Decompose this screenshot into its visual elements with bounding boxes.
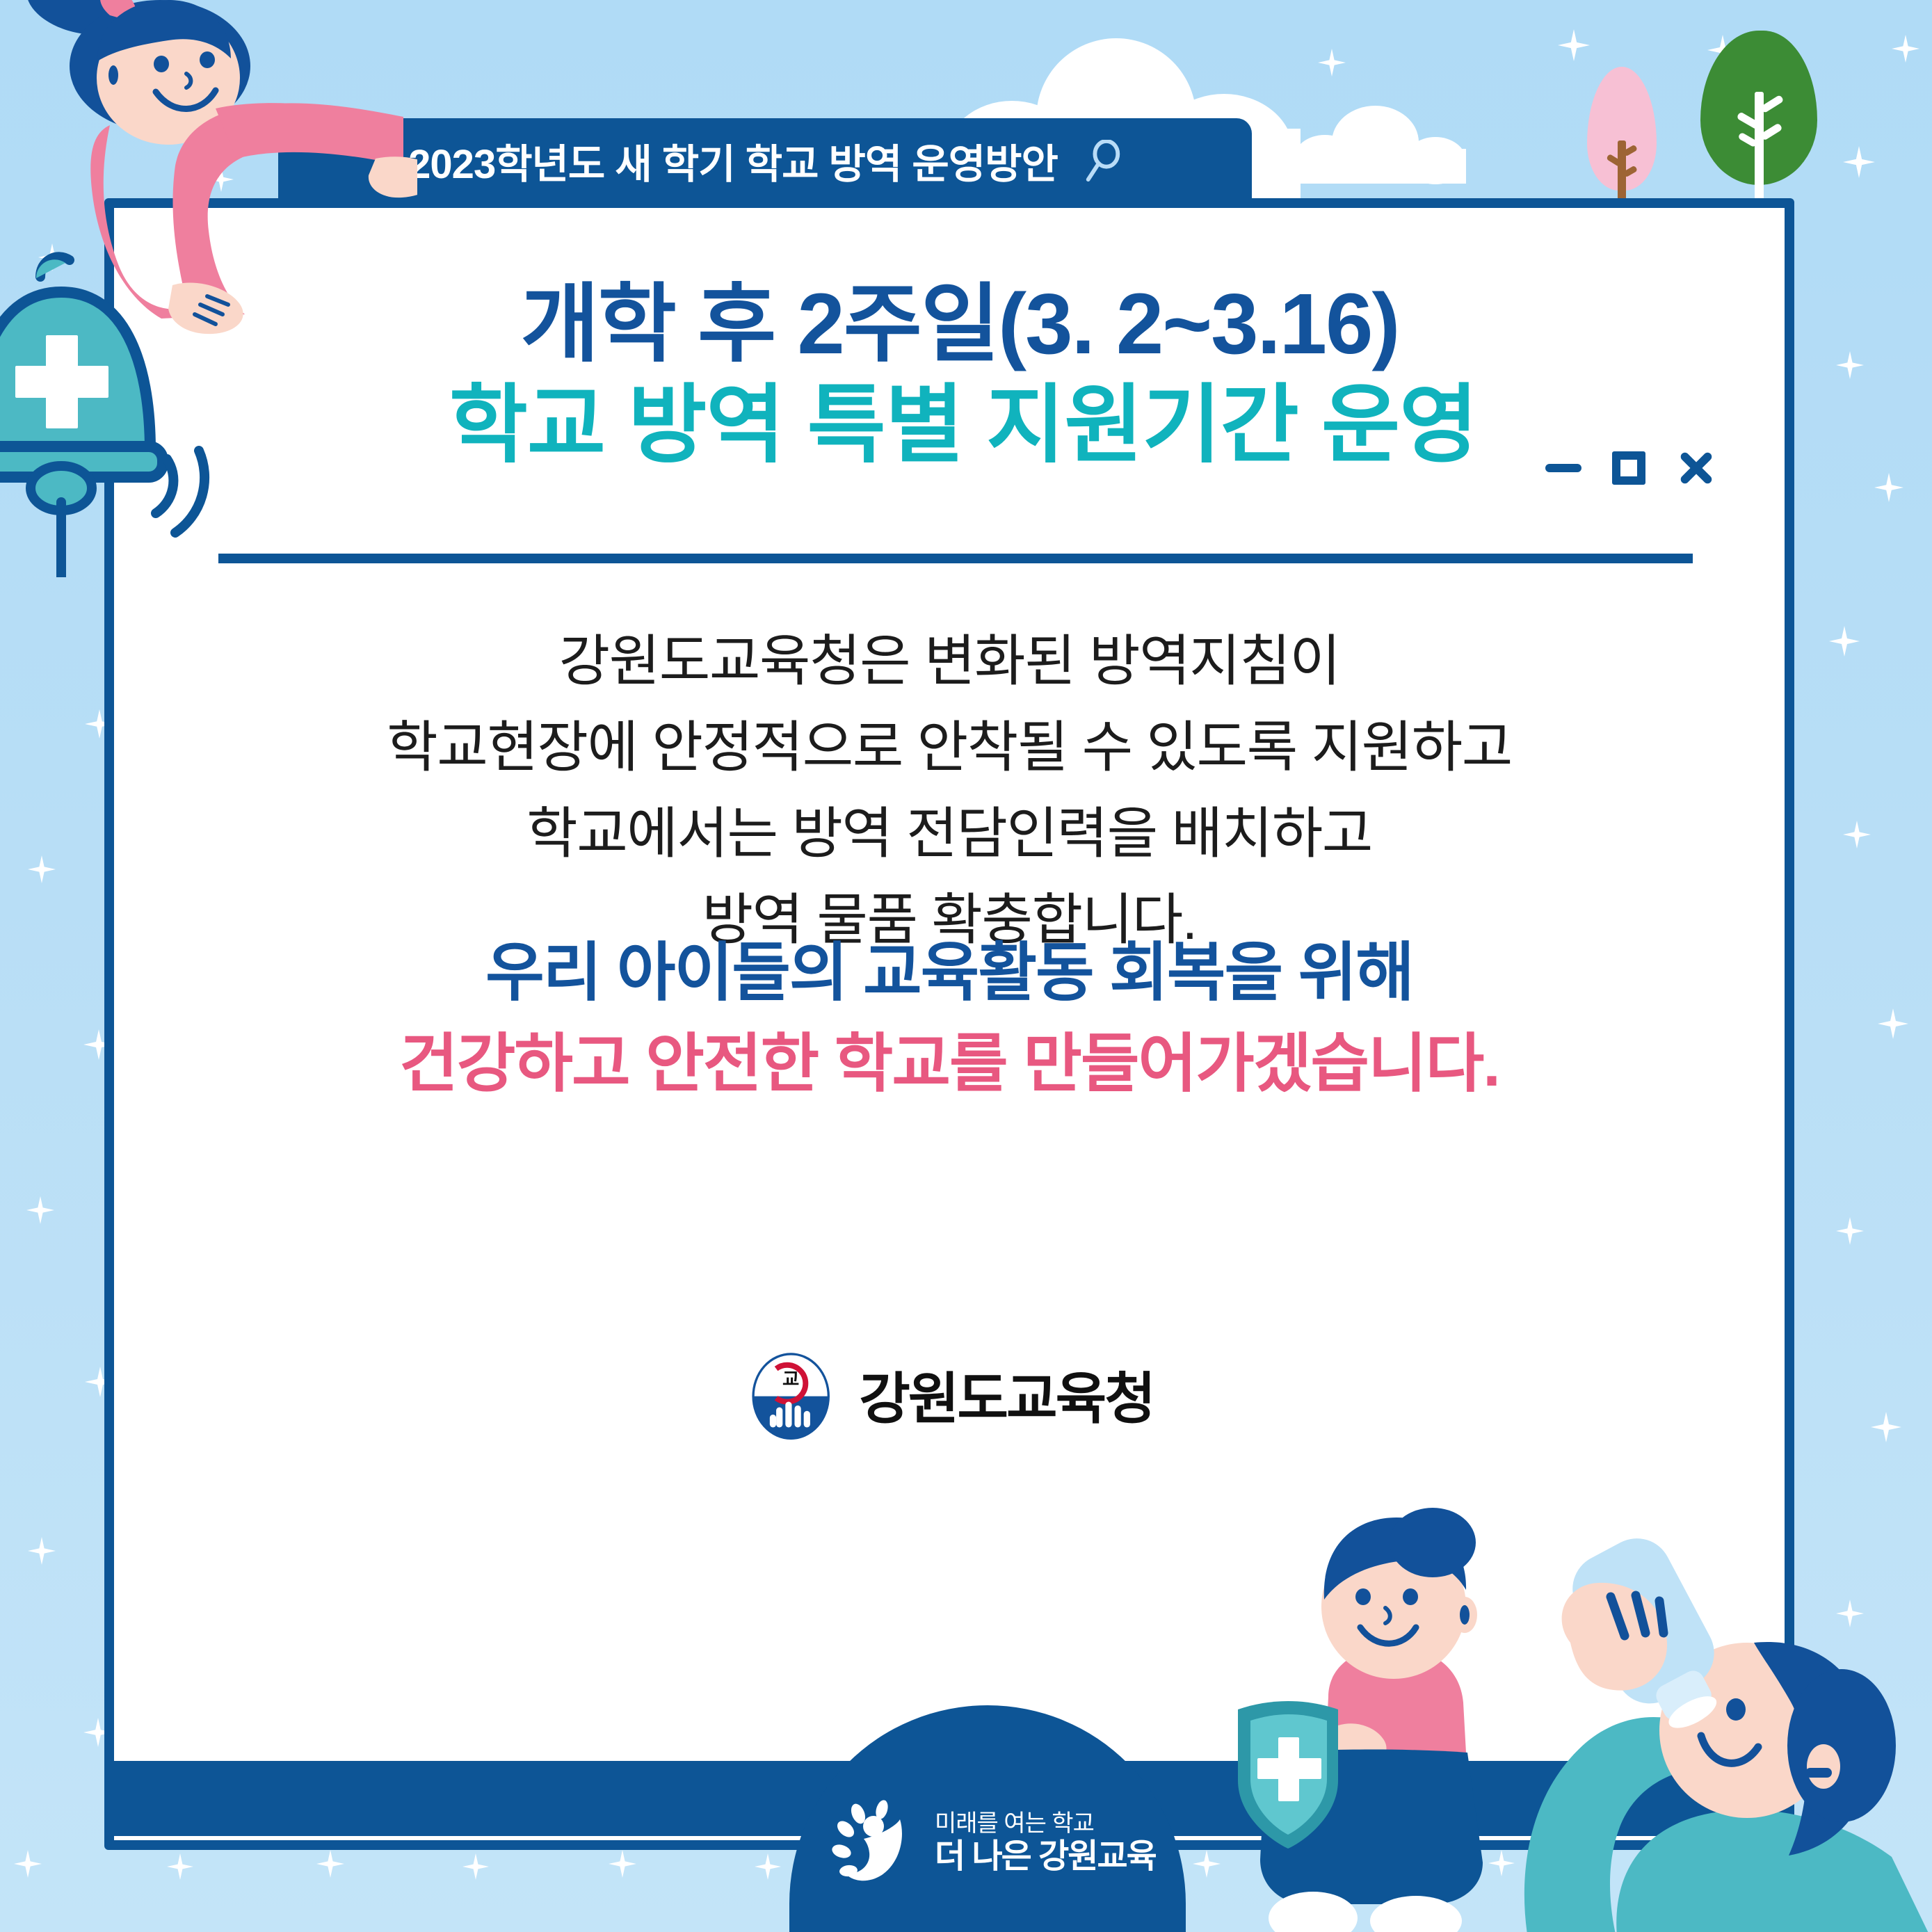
closing-statement: 우리 아이들의 교육활동 회복을 위해 건강하고 안전한 학교를 만들어가겠습니… <box>156 928 1743 1109</box>
magnifier-icon[interactable] <box>1084 140 1122 182</box>
closing-line-blue: 우리 아이들의 교육활동 회복을 위해 <box>156 928 1743 1019</box>
closing-line-pink: 건강하고 안전한 학교를 만들어가겠습니다. <box>156 1019 1743 1110</box>
window-controls <box>1545 448 1716 488</box>
svg-text:교: 교 <box>782 1369 799 1390</box>
close-icon[interactable] <box>1676 448 1716 488</box>
window-title-bar[interactable]: 2023학년도 새 학기 학교 방역 운영방안 <box>278 118 1252 203</box>
footer-slogan-bottom: 더 나은 강원교육 <box>935 1837 1156 1877</box>
agency-logo: 교 강원도교육청 <box>745 1349 1154 1440</box>
sprouting-person-icon <box>828 1798 917 1887</box>
boy-with-shield-and-person-drinking-water <box>1224 1454 1932 1932</box>
body-line: 학교에서는 방역 전담인력을 배치하고 <box>156 791 1743 877</box>
gangwon-education-emblem: 교 <box>745 1349 837 1440</box>
minimize-icon[interactable] <box>1545 464 1581 472</box>
girl-with-pink-bow <box>0 0 417 515</box>
footer-brand: 미래를 여는 학교 더 나은 강원교육 <box>828 1798 1156 1887</box>
maximize-icon[interactable] <box>1612 451 1645 485</box>
body-copy: 강원도교육청은 변화된 방역지침이 학교현장에 안정적으로 안착될 수 있도록 … <box>156 618 1743 963</box>
body-line: 학교현장에 안정적으로 안착될 수 있도록 지원하고 <box>156 705 1743 791</box>
agency-name: 강원도교육청 <box>859 1354 1154 1435</box>
green-tree <box>1700 31 1817 204</box>
poster-canvas: 개학 후 2주일(3. 2~3.16) 학교 방역 특별 지원기간 운영 강원도… <box>0 0 1932 1932</box>
body-line: 강원도교육청은 변화된 방역지침이 <box>156 618 1743 705</box>
window-title: 2023학년도 새 학기 학교 방역 운영방안 <box>408 131 1058 190</box>
cloud-small <box>1294 106 1467 175</box>
cherry-blossom-tree <box>1587 67 1657 206</box>
headline-divider <box>218 554 1693 563</box>
footer-slogan-top: 미래를 여는 학교 <box>935 1810 1156 1837</box>
